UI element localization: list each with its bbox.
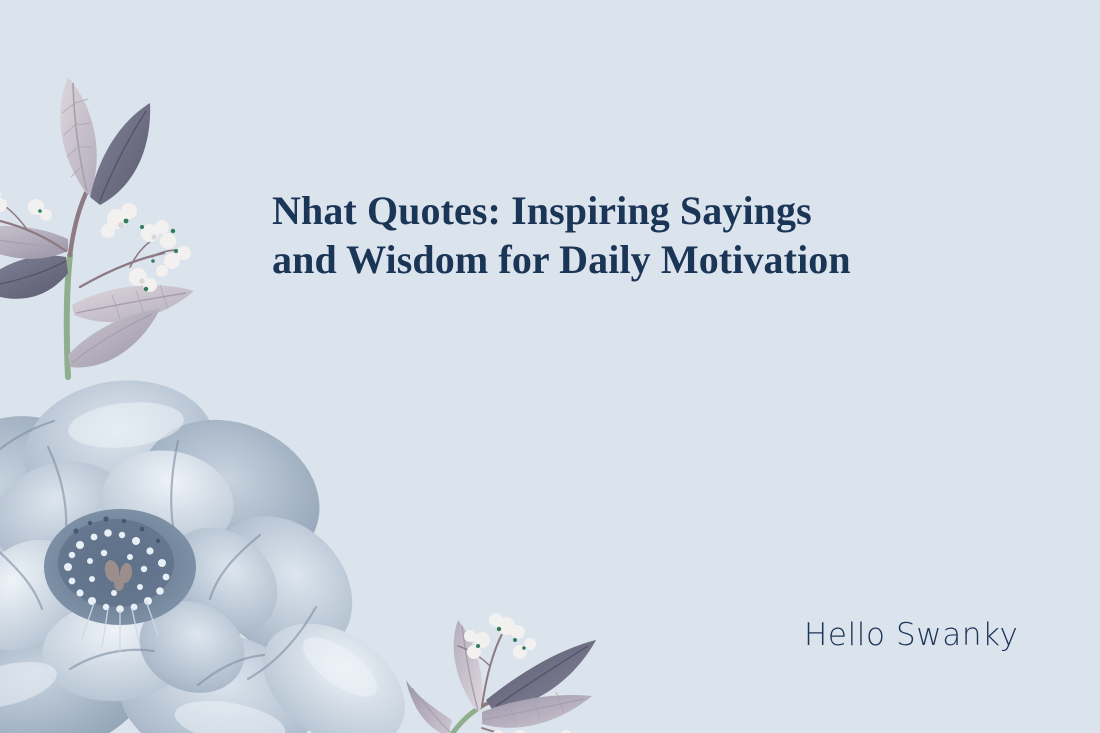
brand-name: Hello Swanky [804,617,1019,653]
sprig-bottom-illustration [370,596,620,733]
sprig-top-illustration [0,55,230,395]
page-title: Nhat Quotes: Inspiring Sayings and Wisdo… [272,186,872,284]
blog-banner: Nhat Quotes: Inspiring Sayings and Wisdo… [0,0,1100,733]
peony-flower-illustration [0,355,410,733]
